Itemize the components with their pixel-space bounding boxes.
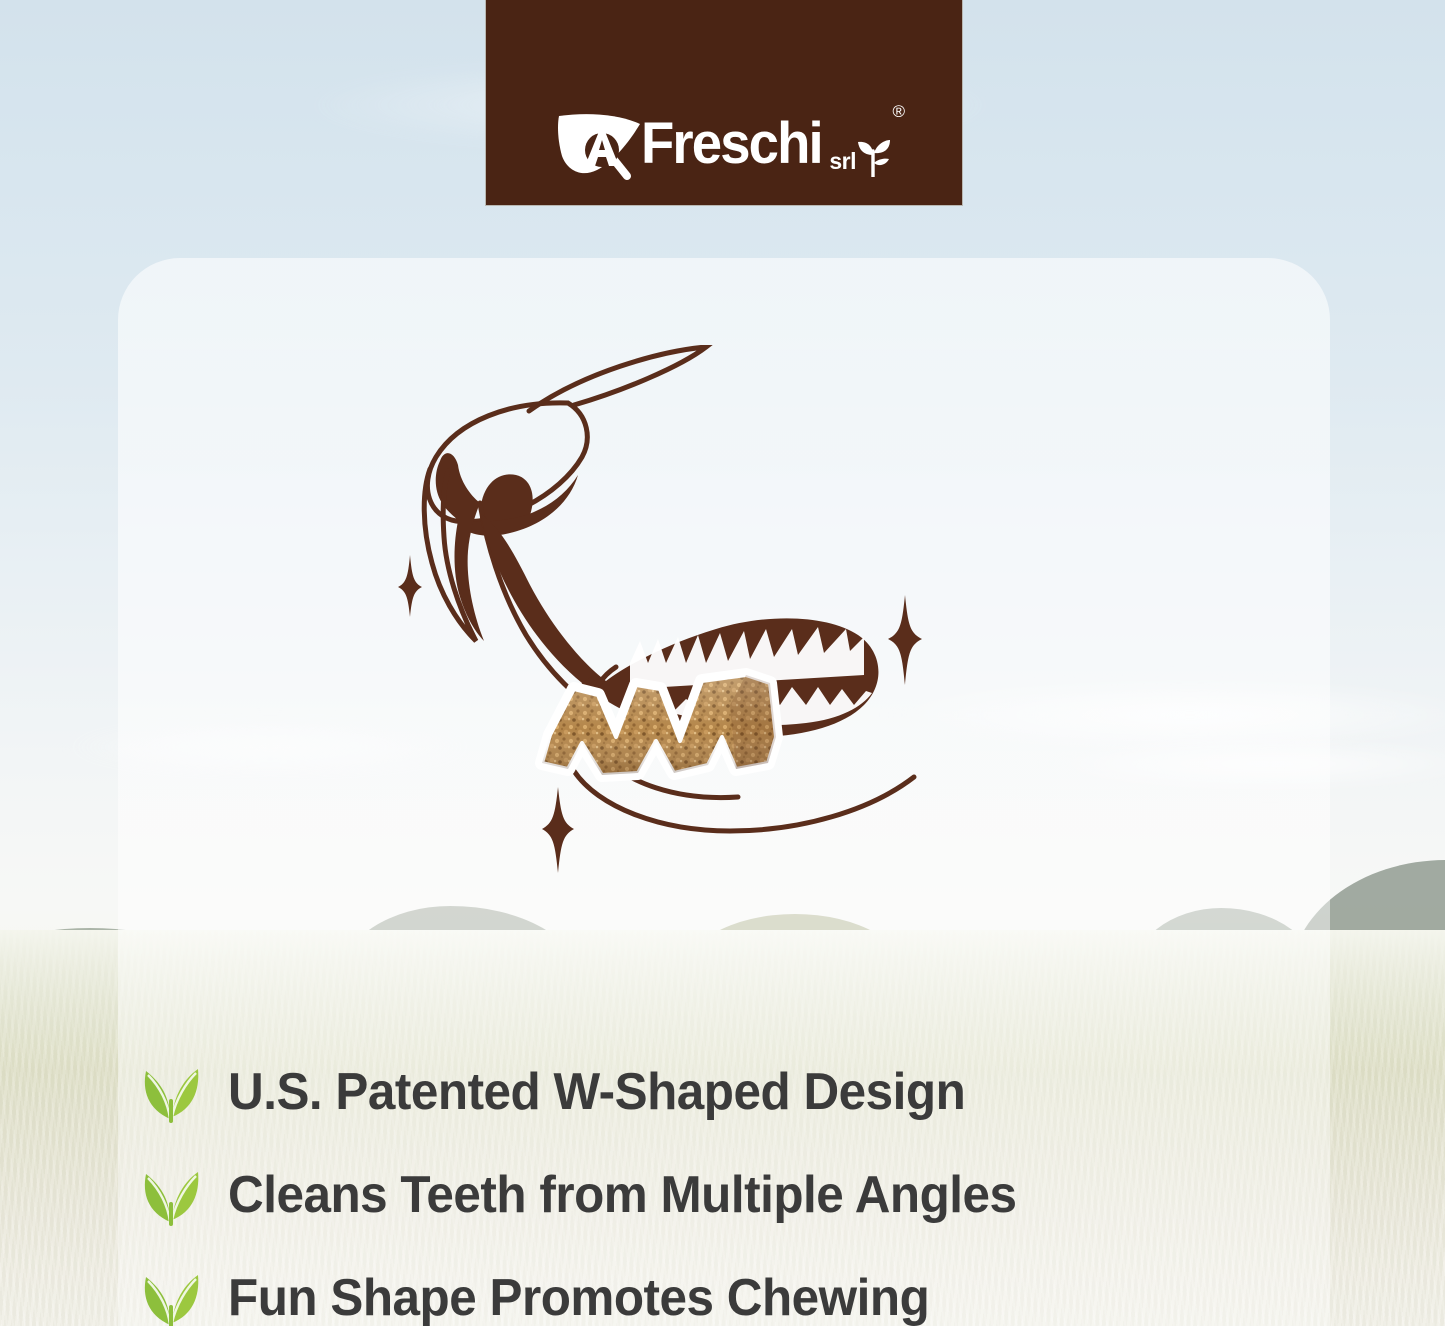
w-shaped-chew-treat	[542, 675, 776, 775]
benefit-label: Cleans Teeth from Multiple Angles	[228, 1169, 1017, 1221]
benefit-item: Fun Shape Promotes Chewing	[140, 1246, 1340, 1326]
leaf-bullet-icon	[140, 1164, 202, 1226]
benefit-list: U.S. Patented W-Shaped Design Cleans Tee…	[140, 1040, 1340, 1326]
brand-logo-lockup: Freschi srl ®	[557, 107, 891, 181]
brand-wordmark: Freschi	[641, 115, 822, 173]
sprout-icon	[857, 133, 891, 181]
benefit-label: Fun Shape Promotes Chewing	[228, 1272, 929, 1324]
product-feature-graphic: Freschi srl ®	[0, 0, 1445, 1326]
sparkle-icon	[398, 555, 422, 617]
benefit-label: U.S. Patented W-Shaped Design	[228, 1066, 965, 1118]
leaf-a-icon	[557, 108, 645, 180]
sparkle-icon	[542, 787, 574, 873]
sparkle-icon	[888, 595, 922, 685]
brand-logo-bar: Freschi srl ®	[485, 0, 963, 206]
brand-legal-suffix: srl	[829, 148, 856, 181]
dog-chewing-w-treat-illustration	[330, 345, 970, 925]
leaf-bullet-icon	[140, 1061, 202, 1123]
registered-trademark-icon: ®	[892, 103, 905, 120]
benefit-item: Cleans Teeth from Multiple Angles	[140, 1143, 1340, 1246]
leaf-bullet-icon	[140, 1267, 202, 1326]
benefit-item: U.S. Patented W-Shaped Design	[140, 1040, 1340, 1143]
